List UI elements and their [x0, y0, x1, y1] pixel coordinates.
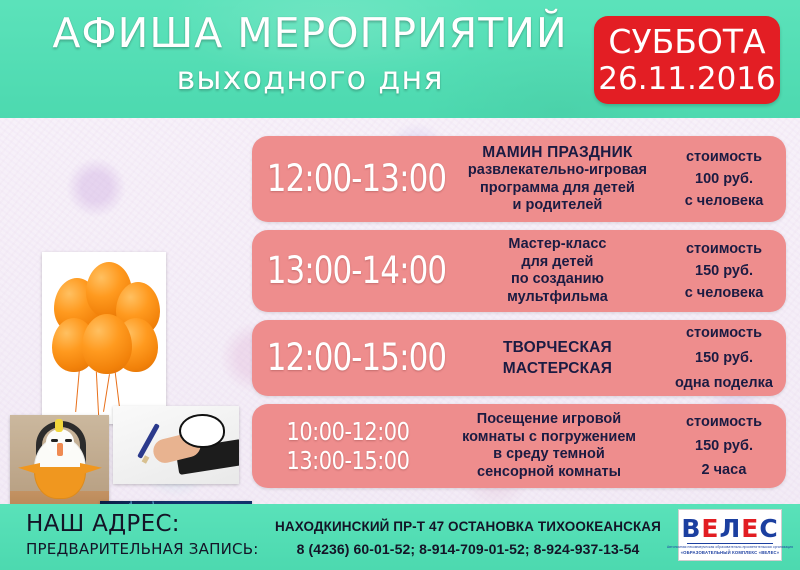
poster-title: АФИША МЕРОПРИЯТИЙ — [40, 8, 580, 58]
address-label: НАШ АДРЕС: — [26, 511, 276, 538]
event-title-line: развлекательно-игровая — [457, 162, 658, 180]
event-title-line: МАСТЕРСКАЯ — [457, 358, 658, 379]
logo-caption-main: «ОБРАЗОВАТЕЛЬНЫЙ КОМПЛЕКС «ВЕЛЕС» — [681, 550, 780, 556]
logo-wordmark: ВЕЛЕС — [681, 515, 778, 542]
veles-logo: ВЕЛЕС Автономная некоммерческая образова… — [678, 509, 782, 561]
event-title-line: и родителей — [457, 197, 658, 215]
event-price-line: 2 часа — [662, 458, 786, 482]
event-title: Мастер-класс для детей по созданию мульт… — [453, 236, 662, 306]
badge-weekday: СУББОТА — [608, 23, 765, 61]
event-title-line: Мастер-класс — [457, 236, 658, 254]
phone-numbers[interactable]: 8 (4236) 60-01-52; 8-914-709-01-52; 8-92… — [258, 538, 678, 561]
logo-letter: С — [759, 514, 778, 543]
event-time-line: 13:00-15:00 — [266, 446, 430, 475]
event-time-line: 12:00-13:00 — [267, 158, 446, 200]
event-title-line: по созданию — [457, 271, 658, 289]
event-price: стоимость 150 руб. 2 часа — [662, 410, 786, 482]
poster-header: АФИША МЕРОПРИЯТИЙ выходного дня СУББОТА … — [0, 0, 800, 118]
event-price-line: 100 руб. — [662, 168, 786, 190]
event-list: 12:00-13:00 МАМИН ПРАЗДНИК развлекательн… — [0, 118, 800, 504]
event-title-line: МАМИН ПРАЗДНИК — [457, 143, 658, 162]
event-price: стоимость 150 руб. с человека — [662, 238, 786, 304]
event-title: ТВОРЧЕСКАЯ МАСТЕРСКАЯ — [453, 337, 662, 379]
event-time-line: 12:00-15:00 — [267, 337, 446, 379]
event-time-line: 10:00-12:00 — [266, 417, 430, 446]
event-price-line: стоимость — [662, 238, 786, 260]
event-row[interactable]: 12:00-13:00 МАМИН ПРАЗДНИК развлекательн… — [252, 136, 786, 222]
footer-contacts: НАХОДКИНСКИЙ ПР-Т 47 ОСТАНОВКА ТИХООКЕАН… — [258, 516, 678, 561]
event-price-line: 150 руб. — [662, 434, 786, 458]
logo-letter: Л — [719, 514, 741, 543]
event-time: 10:00-12:00 13:00-15:00 — [252, 417, 436, 475]
logo-divider — [687, 543, 773, 544]
title-block: АФИША МЕРОПРИЯТИЙ выходного дня — [40, 8, 580, 98]
event-title: Посещение игровой комнаты с погружением … — [436, 411, 662, 481]
event-price-line: стоимость — [662, 410, 786, 434]
event-time: 12:00-15:00 — [252, 337, 453, 379]
logo-letter: Е — [701, 514, 719, 543]
event-price-line: с человека — [662, 282, 786, 304]
event-title-line: ТВОРЧЕСКАЯ — [457, 337, 658, 358]
booking-label: ПРЕДВАРИТЕЛЬНАЯ ЗАПИСЬ: — [26, 538, 269, 560]
event-row[interactable]: 10:00-12:00 13:00-15:00 Посещение игрово… — [252, 404, 786, 488]
event-price-line: 150 руб. — [662, 260, 786, 282]
logo-letter: Е — [741, 514, 759, 543]
event-time: 12:00-13:00 — [252, 158, 453, 200]
event-row[interactable]: 13:00-14:00 Мастер-класс для детей по со… — [252, 230, 786, 312]
event-title: МАМИН ПРАЗДНИК развлекательно-игровая пр… — [453, 143, 662, 215]
badge-date: 26.11.2016 — [598, 61, 776, 97]
event-title-line: для детей — [457, 254, 658, 272]
poster-subtitle: выходного дня — [40, 58, 580, 98]
footer-labels: НАШ АДРЕС: ПРЕДВАРИТЕЛЬНАЯ ЗАПИСЬ: — [26, 511, 276, 560]
event-title-line: программа для детей — [457, 180, 658, 198]
event-title-line: Посещение игровой — [440, 411, 658, 429]
event-row[interactable]: 12:00-15:00 ТВОРЧЕСКАЯ МАСТЕРСКАЯ стоимо… — [252, 320, 786, 396]
event-poster: АФИША МЕРОПРИЯТИЙ выходного дня СУББОТА … — [0, 0, 800, 570]
event-title-line: сенсорной комнаты — [440, 464, 658, 482]
event-price-line: стоимость — [662, 146, 786, 168]
event-price: стоимость 150 руб. одна поделка — [662, 321, 786, 396]
event-title-line: в среду темной — [440, 446, 658, 464]
date-badge: СУББОТА 26.11.2016 — [594, 16, 780, 104]
address-text: НАХОДКИНСКИЙ ПР-Т 47 ОСТАНОВКА ТИХООКЕАН… — [258, 516, 678, 538]
event-time-line: 13:00-14:00 — [267, 250, 446, 292]
event-time: 13:00-14:00 — [252, 250, 453, 292]
event-price-line: одна поделка — [662, 371, 786, 396]
logo-letter: В — [681, 514, 701, 543]
event-price-line: стоимость — [662, 321, 786, 346]
event-price-line: 150 руб. — [662, 346, 786, 371]
event-title-line: мультфильма — [457, 289, 658, 307]
event-price: стоимость 100 руб. с человека — [662, 146, 786, 212]
event-title-line: комнаты с погружением — [440, 429, 658, 447]
event-price-line: с человека — [662, 190, 786, 212]
